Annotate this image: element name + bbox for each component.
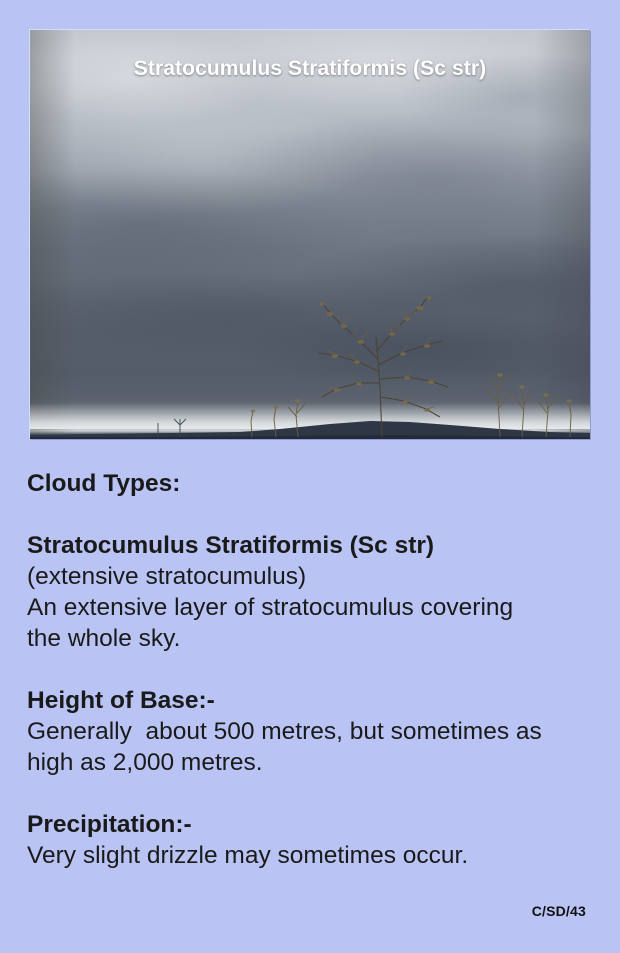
cloud-photo: Stratocumulus Stratiformis (Sc str) xyxy=(30,30,590,439)
cloud-subtitle: (extensive stratocumulus) xyxy=(27,561,597,592)
distant-hills xyxy=(30,413,590,439)
cloud-description-line-1: An extensive layer of stratocumulus cove… xyxy=(27,592,597,623)
slide-reference-code: C/SD/43 xyxy=(532,903,586,919)
cloud-name: Stratocumulus Stratiformis (Sc str) xyxy=(27,530,597,561)
height-of-base-line-2: high as 2,000 metres. xyxy=(27,747,597,778)
photo-sky xyxy=(30,30,590,439)
precipitation-line-1: Very slight drizzle may sometimes occur. xyxy=(27,840,597,871)
photo-overlay-title: Stratocumulus Stratiformis (Sc str) xyxy=(30,57,590,81)
height-of-base-heading: Height of Base:- xyxy=(27,685,597,716)
section-heading: Cloud Types: xyxy=(27,468,597,499)
spacer-3 xyxy=(27,778,597,809)
photo-vignette xyxy=(30,30,590,439)
height-of-base-line-1: Generally about 500 metres, but sometime… xyxy=(27,716,597,747)
spacer-2 xyxy=(27,654,597,685)
cloud-types-slide: Stratocumulus Stratiformis (Sc str) Clou… xyxy=(0,0,620,953)
cloud-description-line-2: the whole sky. xyxy=(27,623,597,654)
slide-body-text: Cloud Types: Stratocumulus Stratiformis … xyxy=(27,468,597,871)
spacer-1 xyxy=(27,499,597,530)
precipitation-heading: Precipitation:- xyxy=(27,809,597,840)
